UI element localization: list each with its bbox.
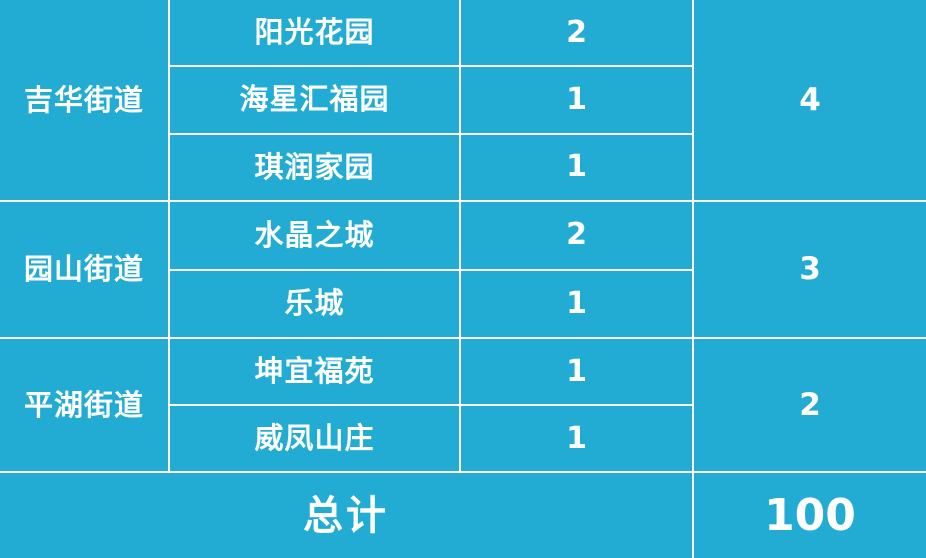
- community-count-cell: 2: [461, 0, 692, 65]
- community-name-cell: 威凤山庄: [170, 406, 461, 471]
- table-row: 海星汇福园 1: [170, 67, 692, 134]
- community-name-label: 水晶之城: [254, 221, 374, 250]
- community-count-cell: 1: [461, 135, 692, 200]
- table-row: 琪润家园 1: [170, 135, 692, 200]
- community-name-cell: 海星汇福园: [170, 67, 461, 132]
- street-name-label: 园山街道: [24, 255, 144, 284]
- community-name-cell: 坤宜福苑: [170, 339, 461, 404]
- community-count-cell: 2: [461, 202, 692, 269]
- total-row: 总计 100: [0, 473, 926, 558]
- street-name-cell: 平湖街道: [0, 339, 170, 471]
- community-rows-group: 水晶之城 2 乐城 1: [170, 202, 694, 337]
- street-subtotal-cell: 4: [694, 0, 926, 200]
- community-count-cell: 1: [461, 67, 692, 132]
- community-count-value: 1: [566, 152, 587, 182]
- street-name-cell: 吉华街道: [0, 0, 170, 200]
- table-section: 吉华街道 阳光花园 2 海星汇福园 1: [0, 0, 926, 202]
- street-subtotal-cell: 2: [694, 339, 926, 471]
- table-row: 坤宜福苑 1: [170, 339, 692, 406]
- total-label: 总计: [303, 496, 389, 536]
- community-count-value: 1: [566, 289, 587, 319]
- community-name-cell: 阳光花园: [170, 0, 461, 65]
- street-community-table: 吉华街道 阳光花园 2 海星汇福园 1: [0, 0, 926, 558]
- street-subtotal-cell: 3: [694, 202, 926, 337]
- community-count-cell: 1: [461, 271, 692, 338]
- community-name-label: 威凤山庄: [254, 424, 374, 453]
- table-row: 乐城 1: [170, 271, 692, 338]
- community-name-label: 坤宜福苑: [254, 357, 374, 386]
- total-value-cell: 100: [694, 473, 926, 558]
- community-count-cell: 1: [461, 406, 692, 471]
- table-row: 阳光花园 2: [170, 0, 692, 67]
- total-label-cell: 总计: [0, 473, 694, 558]
- community-name-label: 阳光花园: [254, 18, 374, 47]
- community-name-cell: 乐城: [170, 271, 461, 338]
- community-count-cell: 1: [461, 339, 692, 404]
- street-name-label: 平湖街道: [24, 391, 144, 420]
- community-count-value: 2: [566, 18, 587, 48]
- street-subtotal-value: 3: [799, 254, 821, 285]
- community-rows-group: 阳光花园 2 海星汇福园 1 琪润家园: [170, 0, 694, 200]
- community-name-cell: 琪润家园: [170, 135, 461, 200]
- total-value: 100: [764, 494, 856, 538]
- street-name-label: 吉华街道: [24, 86, 144, 115]
- community-count-value: 1: [566, 424, 587, 454]
- community-name-label: 乐城: [284, 289, 344, 318]
- community-count-value: 1: [566, 357, 587, 387]
- table-section: 园山街道 水晶之城 2 乐城 1: [0, 202, 926, 339]
- community-name-label: 海星汇福园: [239, 85, 389, 114]
- table-row: 水晶之城 2: [170, 202, 692, 271]
- street-subtotal-value: 4: [799, 85, 821, 116]
- street-name-cell: 园山街道: [0, 202, 170, 337]
- community-count-value: 1: [566, 85, 587, 115]
- community-count-value: 2: [566, 220, 587, 250]
- street-subtotal-value: 2: [799, 390, 821, 421]
- community-name-label: 琪润家园: [254, 153, 374, 182]
- table-section: 平湖街道 坤宜福苑 1 威凤山庄 1: [0, 339, 926, 473]
- table-row: 威凤山庄 1: [170, 406, 692, 471]
- community-rows-group: 坤宜福苑 1 威凤山庄 1: [170, 339, 694, 471]
- table-body: 吉华街道 阳光花园 2 海星汇福园 1: [0, 0, 926, 473]
- community-name-cell: 水晶之城: [170, 202, 461, 269]
